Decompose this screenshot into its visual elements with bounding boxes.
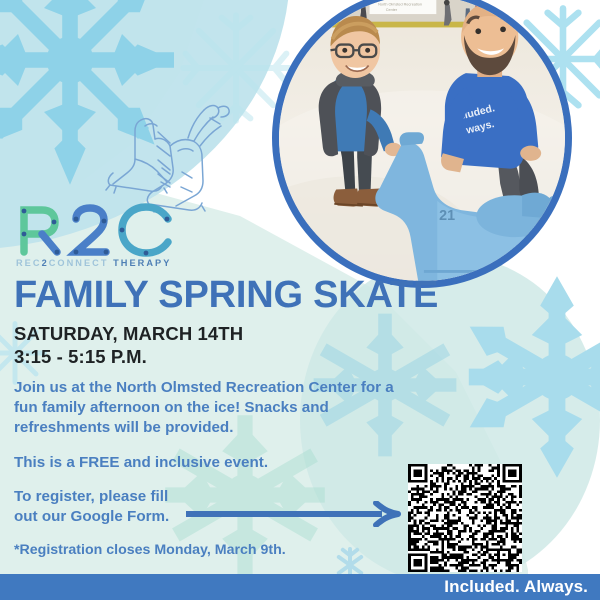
qr-code-canvas[interactable] bbox=[408, 464, 522, 572]
logo-tagline-highlight: 2 bbox=[42, 258, 49, 268]
event-date: SATURDAY, MARCH 14TH bbox=[14, 323, 243, 346]
svg-text:21: 21 bbox=[439, 208, 455, 224]
footer-bar: Included. Always. bbox=[0, 574, 600, 600]
logo-tagline: REC2CONNECT THERAPY bbox=[16, 258, 196, 268]
qr-code[interactable] bbox=[408, 464, 522, 572]
logo-mark-r2c bbox=[16, 202, 181, 257]
event-time: 3:15 - 5:15 P.M. bbox=[14, 346, 243, 369]
event-photo-image: North Olmsted Recreation Center bbox=[279, 0, 565, 281]
event-photo: North Olmsted Recreation Center bbox=[272, 0, 572, 288]
flyer-canvas: North Olmsted Recreation Center bbox=[0, 0, 600, 600]
free-event-line: This is a FREE and inclusive event. bbox=[14, 453, 414, 473]
svg-text:North Olmsted Recreation: North Olmsted Recreation bbox=[378, 2, 422, 6]
footer-tagline: Included. Always. bbox=[444, 577, 600, 597]
page-title: FAMILY SPRING SKATE bbox=[14, 276, 438, 314]
event-datetime: SATURDAY, MARCH 14TH 3:15 - 5:15 P.M. bbox=[14, 323, 243, 369]
logo-tagline-prefix: REC bbox=[16, 258, 42, 268]
deadline-note: *Registration closes Monday, March 9th. bbox=[14, 541, 414, 559]
svg-text:Center: Center bbox=[386, 8, 398, 12]
register-instruction: To register, please fill out our Google … bbox=[14, 487, 189, 527]
logo-tagline-middle: CONNECT bbox=[49, 258, 113, 268]
body-copy: Join us at the North Olmsted Recreation … bbox=[14, 378, 414, 560]
logo: REC2CONNECT THERAPY bbox=[16, 202, 196, 274]
arrow-to-qr-icon bbox=[186, 501, 402, 527]
logo-tagline-suffix: THERAPY bbox=[113, 258, 171, 268]
intro-paragraph: Join us at the North Olmsted Recreation … bbox=[14, 378, 414, 439]
